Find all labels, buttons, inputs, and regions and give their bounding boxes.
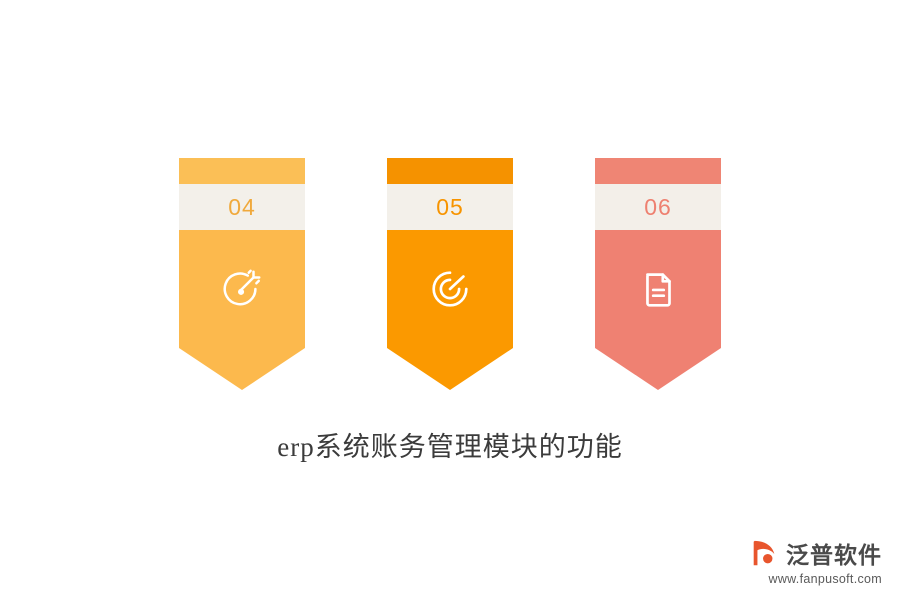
watermark-brand-row: 泛普软件 xyxy=(749,536,882,570)
watermark-url: www.fanpusoft.com xyxy=(769,572,882,586)
banner-tail-06 xyxy=(595,348,721,390)
banner-number-05: 05 xyxy=(387,184,513,230)
diagram-canvas: 04 05 xyxy=(0,0,900,600)
banner-notch-04 xyxy=(283,151,305,158)
banner-body-04 xyxy=(179,230,305,348)
banner-item-06[interactable]: 06 xyxy=(595,158,721,348)
banner-tail-04 xyxy=(179,348,305,390)
banner-body-05 xyxy=(387,230,513,348)
banner-group: 04 05 xyxy=(0,158,900,348)
fanpu-logo-icon xyxy=(749,538,779,568)
banner-top-strip-05 xyxy=(387,158,513,184)
banner-tail-05 xyxy=(387,348,513,390)
rocket-launch-icon xyxy=(219,266,265,312)
page-title: erp系统账务管理模块的功能 xyxy=(0,425,900,464)
banner-item-04[interactable]: 04 xyxy=(179,158,305,348)
banner-top-strip-06 xyxy=(595,158,721,184)
document-file-icon xyxy=(635,266,681,312)
banner-number-06: 06 xyxy=(595,184,721,230)
watermark-brand: 泛普软件 xyxy=(786,536,882,570)
target-dart-icon xyxy=(427,266,473,312)
banner-item-05[interactable]: 05 xyxy=(387,158,513,348)
banner-body-06 xyxy=(595,230,721,348)
banner-top-strip-04 xyxy=(179,158,305,184)
watermark: 泛普软件 www.fanpusoft.com xyxy=(749,536,882,586)
banner-number-04: 04 xyxy=(179,184,305,230)
